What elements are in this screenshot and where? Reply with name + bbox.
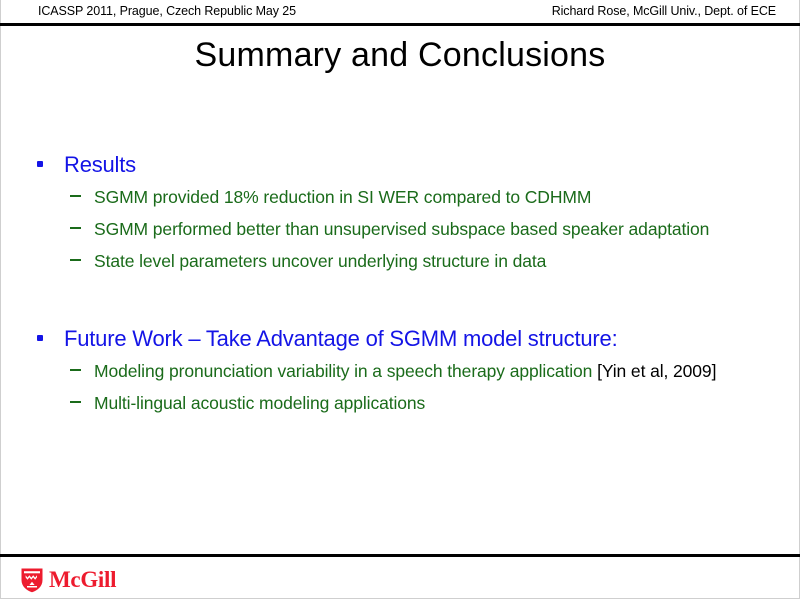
slide-body: Results SGMM provided 18% reduction in S… (32, 152, 776, 424)
section-heading-label: Future Work – Take Advantage of SGMM mod… (64, 326, 618, 351)
square-bullet-icon (37, 335, 43, 341)
list-item: SGMM provided 18% reduction in SI WER co… (70, 186, 776, 209)
list-item: Multi-lingual acoustic modeling applicat… (70, 392, 776, 415)
section-heading-label: Results (64, 152, 136, 177)
dash-bullet-icon (70, 227, 81, 229)
mcgill-wordmark: McGill (49, 568, 116, 592)
list-item-text: State level parameters uncover underlyin… (94, 251, 546, 271)
mcgill-logo: McGill (20, 567, 116, 593)
dash-bullet-icon (70, 369, 81, 371)
presentation-slide: ICASSP 2011, Prague, Czech Republic May … (0, 0, 800, 599)
section-future-work: Future Work – Take Advantage of SGMM mod… (32, 326, 776, 415)
list-item-text: SGMM performed better than unsupervised … (94, 219, 709, 239)
section-results: Results SGMM provided 18% reduction in S… (32, 152, 776, 273)
header-author-info: Richard Rose, McGill Univ., Dept. of ECE (552, 4, 776, 18)
section-spacer (32, 282, 776, 326)
sub-bullet-list: SGMM provided 18% reduction in SI WER co… (32, 186, 776, 273)
sub-bullet-list: Modeling pronunciation variability in a … (32, 360, 776, 415)
header-conference-info: ICASSP 2011, Prague, Czech Republic May … (38, 4, 296, 18)
list-item-body: Modeling pronunciation variability in a … (94, 361, 597, 381)
dash-bullet-icon (70, 259, 81, 261)
list-item: State level parameters uncover underlyin… (70, 250, 776, 273)
header-divider (0, 23, 800, 26)
list-item: Modeling pronunciation variability in a … (70, 360, 776, 383)
page-title: Summary and Conclusions (0, 36, 800, 75)
list-item-text: Modeling pronunciation variability in a … (94, 361, 716, 381)
list-item-text: SGMM provided 18% reduction in SI WER co… (94, 187, 591, 207)
slide-left-border (0, 0, 1, 599)
footer-divider (0, 554, 800, 557)
list-item-text: Multi-lingual acoustic modeling applicat… (94, 393, 425, 413)
list-item: SGMM performed better than unsupervised … (70, 218, 776, 241)
square-bullet-icon (37, 161, 43, 167)
dash-bullet-icon (70, 195, 81, 197)
mcgill-shield-crest-icon (20, 567, 44, 593)
section-heading-row: Results (32, 152, 776, 178)
dash-bullet-icon (70, 401, 81, 403)
section-heading-row: Future Work – Take Advantage of SGMM mod… (32, 326, 776, 352)
citation-reference: [Yin et al, 2009] (597, 361, 716, 381)
